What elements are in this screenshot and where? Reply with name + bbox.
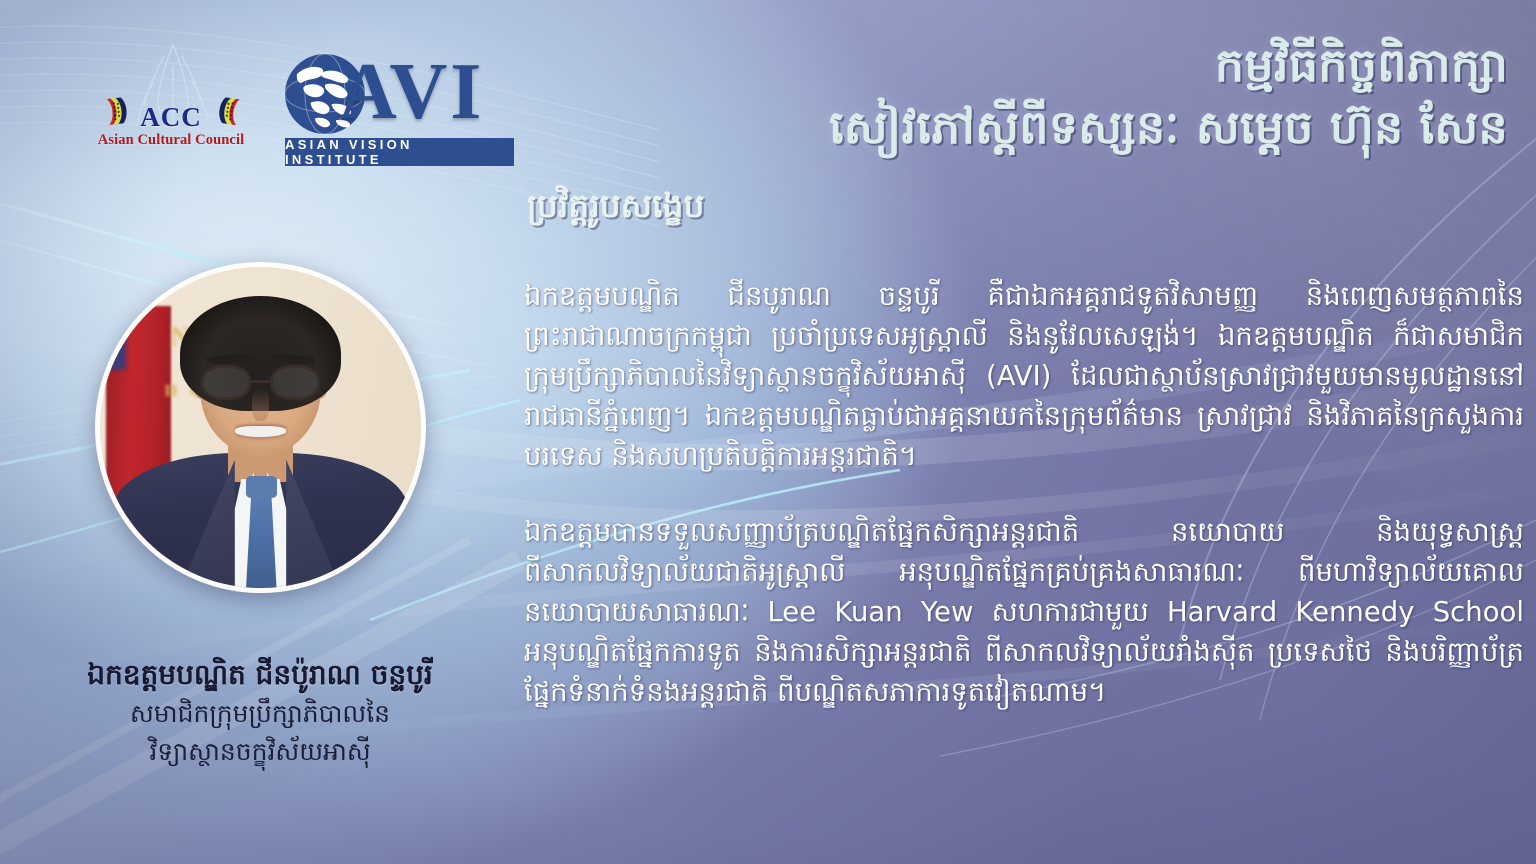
section-heading: ប្រវិត្តរូបសង្ខេប: [527, 184, 704, 228]
mouth: [235, 426, 286, 437]
avi-logo: AVI ASIAN VISION INSTITUTE: [283, 46, 515, 164]
page-title: កម្មវិធីកិច្ចពិភាក្សា សៀវភៅស្ដីពីទស្សនៈ …: [628, 34, 1508, 158]
caption-role-line-1: សមាជិកក្រុមប្រឹក្សាភិបាលនៃ: [0, 695, 520, 733]
caption-name: ឯកឧត្តមបណ្ឌិត ជីនប៉ូរាណ ចន្ទបូរី: [0, 655, 520, 695]
avi-name-bar: ASIAN VISION INSTITUTE: [285, 138, 514, 166]
portrait-photo: N d S n d Int: [95, 262, 426, 593]
acc-abbreviation: ACC: [96, 102, 246, 133]
portrait-caption: ឯកឧត្តមបណ្ឌិត ជីនប៉ូរាណ ចន្ទបូរី សមាជិកក…: [0, 655, 520, 771]
portrait-illustration: N d S n d Int: [100, 267, 421, 588]
poster-stage: ACC Asian Cultural Council AVI ASIAN: [0, 0, 1536, 864]
biography-body: ឯកឧត្តមបណ្ឌិត ជីនបូរាណ ចន្ទបូរី គឺជាឯកអគ…: [524, 276, 1524, 712]
flag-blue-band: [106, 306, 125, 370]
avi-abbreviation: AVI: [339, 46, 484, 138]
acc-logo: ACC Asian Cultural Council: [96, 58, 246, 170]
acc-full-name: Asian Cultural Council: [96, 132, 246, 149]
title-line-2: សៀវភៅស្ដីពីទស្សនៈ សម្តេច ហ៊ុន សែន: [628, 96, 1508, 158]
biography-paragraph-1: ឯកឧត្តមបណ្ឌិត ជីនបូរាណ ចន្ទបូរី គឺជាឯកអគ…: [524, 276, 1524, 476]
caption-role-line-2: វិទ្យាស្ថានចក្ខុវិស័យអាស៊ី: [0, 733, 520, 771]
glasses-bridge: [251, 380, 270, 383]
lens-left: [201, 365, 251, 400]
nose: [252, 389, 268, 421]
title-line-1: កម្មវិធីកិច្ចពិភាក្សា: [628, 34, 1508, 96]
necktie-knot: [246, 476, 276, 498]
avi-full-name: ASIAN VISION INSTITUTE: [285, 137, 514, 167]
biography-paragraph-2: ឯកឧត្តមបានទទួលសញ្ញាប័ត្របណ្ឌិតផ្នែកសិក្ស…: [524, 512, 1524, 712]
lens-right: [270, 365, 320, 400]
